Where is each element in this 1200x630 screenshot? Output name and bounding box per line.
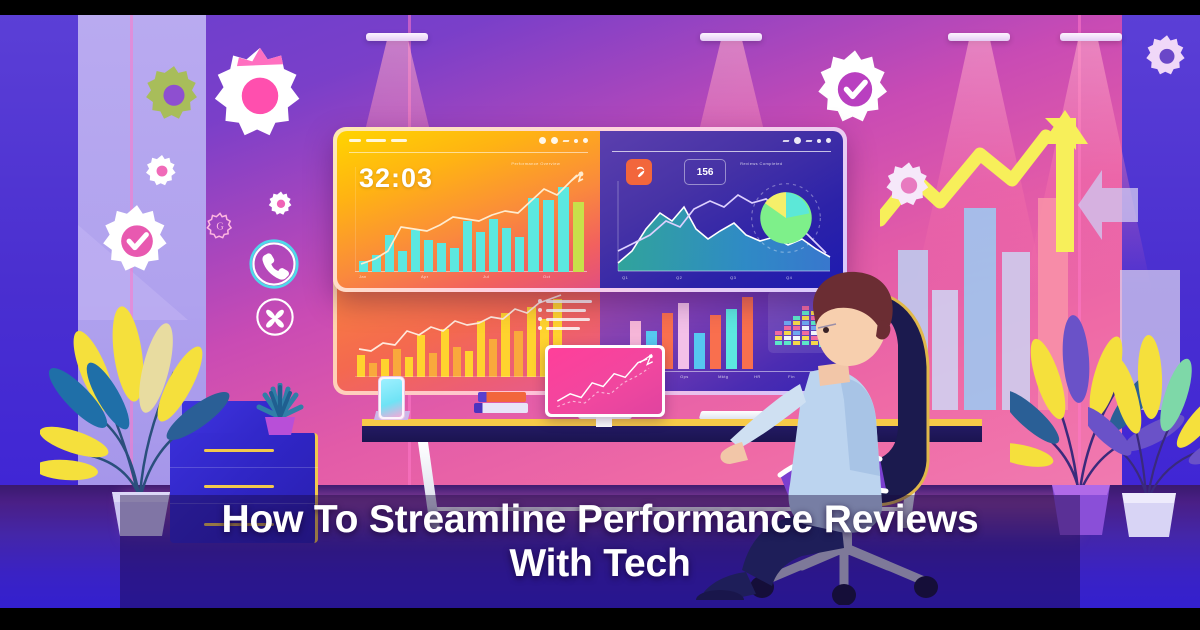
legend-item: [538, 299, 592, 303]
dot-icon[interactable]: [583, 138, 588, 143]
ceiling-lamp: [366, 33, 428, 41]
secondary-monitor[interactable]: [545, 345, 665, 417]
pen-icon[interactable]: [806, 140, 813, 142]
chart-icon[interactable]: [783, 140, 790, 142]
bar-chart-yellow: [353, 291, 569, 377]
phone-circle-icon: [247, 237, 301, 291]
gear-outline-icon: G: [205, 211, 235, 241]
legend-item: [538, 308, 592, 312]
legend-item: [538, 326, 592, 330]
circle-icon[interactable]: [539, 137, 546, 144]
book-purple: [474, 403, 528, 413]
hero-illustration: G: [0, 0, 1200, 630]
dot-icon[interactable]: [817, 139, 821, 143]
monitor-screen: 32:03 Performance Overview: [337, 131, 843, 288]
axis-tick: Oct: [543, 274, 550, 279]
secondary-monitor-screen: [548, 348, 662, 414]
check-gear-icon: [816, 48, 894, 126]
ceiling-lamp: [1060, 33, 1122, 41]
axis-tick: Q1: [622, 275, 628, 280]
title-line-1: How To Streamline Performance Reviews: [0, 498, 1200, 542]
toolbar-icons[interactable]: [539, 137, 588, 144]
ceiling-lamp: [700, 33, 762, 41]
line-chart-pink: [548, 348, 662, 414]
title-line-2: With Tech: [0, 542, 1200, 586]
gear-icon: [212, 45, 308, 141]
letterbox-top: [0, 0, 1200, 15]
axis-tick: Q2: [676, 275, 682, 280]
axis-tick: Jul: [483, 274, 489, 279]
bar-chart-cyan: [355, 165, 587, 272]
pen-icon[interactable]: [563, 140, 570, 142]
legend-list: [538, 299, 592, 335]
gear-icon: [143, 63, 205, 125]
dashboard-panel-right: 156 Reviews Completed: [600, 131, 843, 288]
axis-tick: Apr: [421, 274, 428, 279]
succulent-plant: [255, 383, 305, 437]
axis-tick: Ops: [680, 374, 689, 379]
svg-text:G: G: [216, 222, 224, 233]
stat-value: 156: [697, 167, 714, 178]
toolbar-icons[interactable]: [783, 137, 831, 144]
check-gear-icon: [101, 203, 173, 275]
dashboard-panel-left: 32:03 Performance Overview: [337, 131, 600, 288]
dot-icon[interactable]: [826, 138, 831, 143]
book-orange: [478, 392, 526, 402]
monitor2-neck: [596, 417, 612, 427]
phone-screen: [381, 379, 402, 417]
gear-icon: [1145, 33, 1189, 77]
gear-icon: [145, 153, 179, 187]
panel-toolbar: [349, 139, 407, 142]
gear-icon: [885, 160, 933, 208]
page-title: How To Streamline Performance Reviews Wi…: [0, 498, 1200, 586]
axis-tick: Jan: [359, 274, 367, 279]
letterbox-bottom: [0, 608, 1200, 630]
dot-icon[interactable]: [574, 139, 578, 143]
ceiling-lamp: [948, 33, 1010, 41]
close-circle-icon: [254, 296, 296, 338]
circle-icon[interactable]: [794, 137, 801, 144]
panel-caption: Reviews Completed: [740, 161, 782, 166]
pie-chart: [747, 179, 825, 257]
circle-icon[interactable]: [551, 137, 558, 144]
gear-icon: [268, 190, 294, 216]
smartphone[interactable]: [378, 376, 405, 420]
legend-item: [538, 317, 592, 321]
main-monitor[interactable]: 32:03 Performance Overview: [333, 127, 847, 292]
